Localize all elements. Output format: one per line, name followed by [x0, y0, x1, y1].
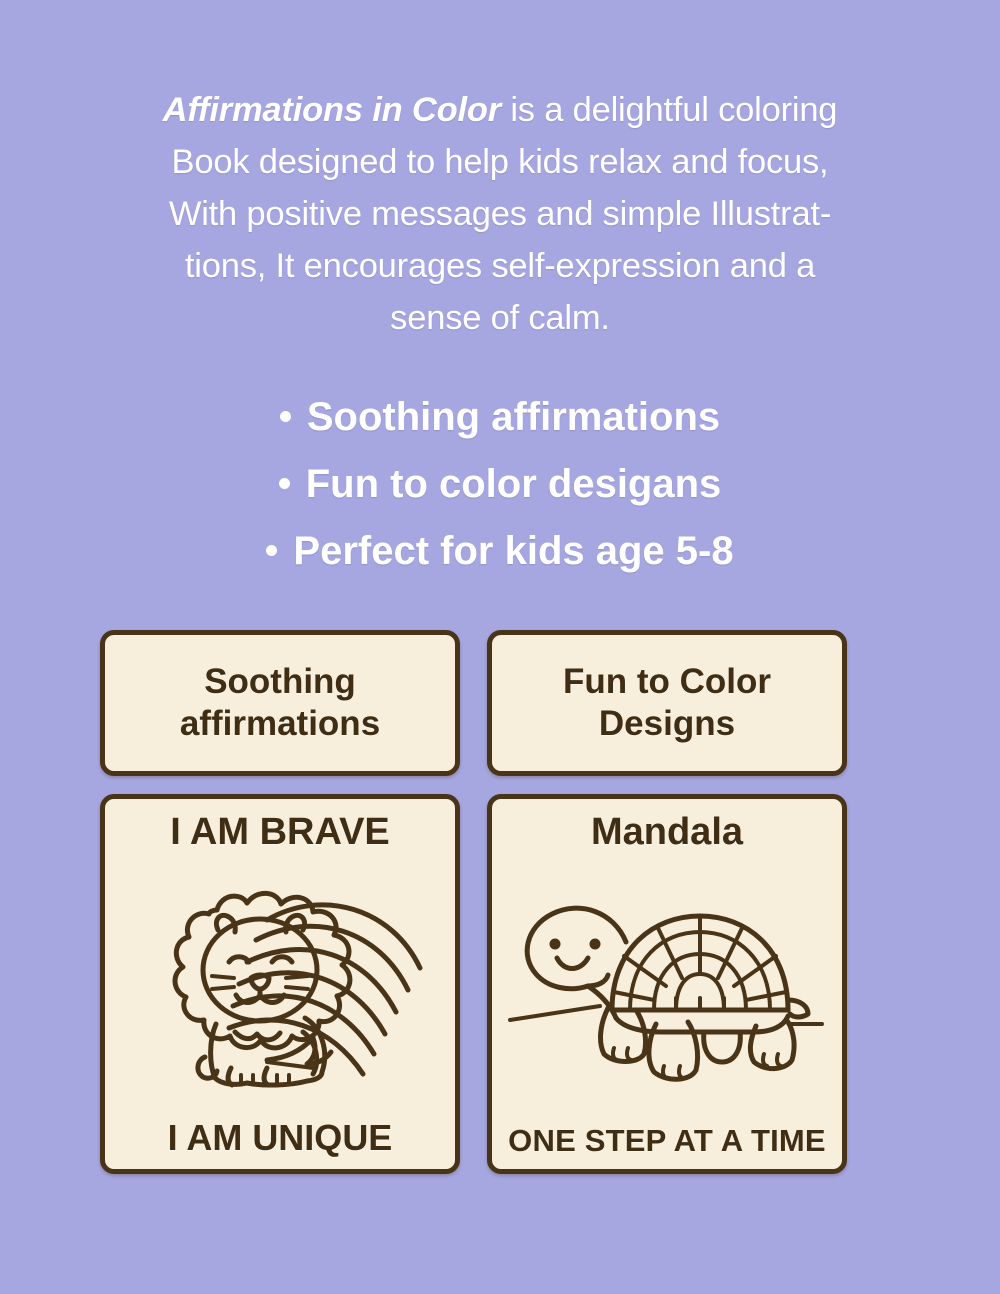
lion-eye-left-icon [229, 956, 249, 961]
lion-face-icon [203, 919, 317, 1021]
intro-line-2: Book designed to help kids relax and foc… [172, 143, 829, 181]
lion-paw-left-icon [228, 1068, 232, 1085]
feature-card-line-1: Fun to Color [563, 662, 771, 701]
feature-card-line-2: Designs [599, 704, 735, 743]
turtle-shell-radials-icon [614, 916, 786, 1010]
ground-line-left-icon [510, 1006, 600, 1020]
lion-paw-right-icon [264, 1068, 268, 1085]
list-item: Fun to color desigans [100, 451, 900, 518]
list-item: Perfect for kids age 5-8 [100, 518, 900, 585]
preview-card-lion[interactable]: I AM BRAVE [100, 794, 460, 1174]
bullet-label-1: Soothing affirmations [307, 395, 720, 439]
feature-card-line-1: Soothing [204, 662, 356, 701]
lion-chest-icon [235, 1032, 280, 1040]
intro-line-4: tions, It encourages self-expression and… [185, 247, 815, 285]
intro-paragraph: Affirmations in Color is a delightful co… [100, 84, 900, 344]
turtle-tail-icon [788, 1000, 808, 1017]
preview-card-body: I AM BRAVE [105, 799, 455, 1169]
bullet-dot-icon [279, 478, 290, 489]
intro-line-3: With positive messages and simple Illust… [169, 195, 831, 233]
feature-card-text: Soothing affirmations [180, 661, 380, 745]
bullet-dot-icon [266, 545, 277, 556]
lion-illustration [113, 854, 447, 1117]
feature-card-head: Fun to Color Designs [492, 635, 842, 771]
card-grid: Soothing affirmations Fun to Color Desig… [100, 630, 848, 1174]
turtle-with-mandala-shell-drawing [504, 882, 830, 1096]
feature-card-soothing-affirmations[interactable]: Soothing affirmations [100, 630, 460, 776]
turtle-chin-icon [588, 975, 608, 986]
bullet-dot-icon [280, 411, 291, 422]
intro-line-5: sense of calm. [390, 299, 610, 337]
poster-page: Affirmations in Color is a delightful co… [0, 0, 1000, 1294]
card-row-previews: I AM BRAVE [100, 794, 848, 1174]
feature-bullet-list: Soothing affirmations Fun to color desig… [100, 384, 900, 585]
turtle-eye-left-icon [550, 938, 561, 949]
card-row-features: Soothing affirmations Fun to Color Desig… [100, 630, 848, 776]
turtle-front-leg-icon [601, 1008, 646, 1062]
turtle-illustration [500, 854, 834, 1123]
lion-top-label: I AM BRAVE [170, 811, 390, 854]
turtle-head-icon [527, 908, 626, 989]
feature-card-head: Soothing affirmations [105, 635, 455, 771]
bullet-label-3: Perfect for kids age 5-8 [293, 529, 733, 573]
feature-card-fun-to-color-designs[interactable]: Fun to Color Designs [487, 630, 847, 776]
turtle-top-label: Mandala [591, 811, 743, 854]
lion-with-rainbow-drawing [117, 872, 443, 1100]
feature-card-text: Fun to Color Designs [563, 661, 771, 745]
lion-eye-right-icon [272, 956, 292, 961]
turtle-bottom-label: ONE STEP AT A TIME [508, 1123, 826, 1159]
turtle-belly-icon [704, 1032, 741, 1062]
turtle-smile-icon [557, 958, 588, 969]
intro-line-1-rest: is a delightful coloring [501, 91, 837, 129]
preview-card-body: Mandala [492, 799, 842, 1169]
feature-card-line-2: affirmations [180, 704, 380, 743]
lion-bottom-label: I AM UNIQUE [168, 1117, 393, 1159]
list-item: Soothing affirmations [100, 384, 900, 451]
bullet-label-2: Fun to color desigans [306, 462, 722, 506]
preview-card-turtle[interactable]: Mandala [487, 794, 847, 1174]
book-title: Affirmations in Color [163, 91, 501, 129]
turtle-eye-right-icon [590, 938, 601, 949]
